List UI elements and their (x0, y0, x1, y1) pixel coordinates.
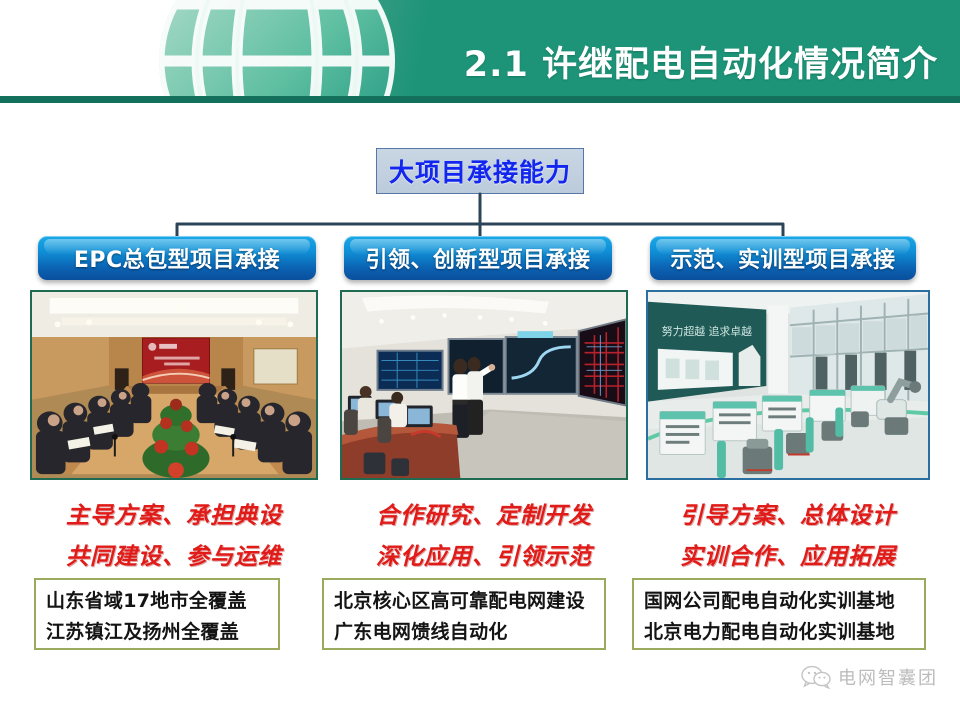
watermark: 电网智囊团 (801, 664, 938, 690)
branch-pill-label: 示范、实训型项目承接 (670, 242, 895, 274)
diagram-root-node[interactable]: 大项目承接能力 (376, 148, 584, 194)
slogan-epc-line-1: 主导方案、承担典设 (30, 496, 318, 530)
factbox-line: 江苏镇江及扬州全覆盖 (46, 617, 268, 648)
meeting-room-photo (30, 290, 318, 480)
factbox-line: 北京核心区高可靠配电网建设 (334, 586, 594, 617)
branch-pill-innovation[interactable]: 引领、创新型项目承接 (344, 236, 612, 280)
slogan-innovation-line-1: 合作研究、定制开发 (340, 496, 628, 530)
branch-pill-training[interactable]: 示范、实训型项目承接 (650, 236, 916, 280)
training-base-photo: 努力超越 追求卓越 (646, 290, 930, 480)
factbox-training: 国网公司配电自动化实训基地 北京电力配电自动化实训基地 (632, 578, 926, 650)
factbox-line: 国网公司配电自动化实训基地 (644, 586, 914, 617)
training-base-banner-text: 努力超越 追求卓越 (662, 324, 752, 338)
factbox-line: 北京电力配电自动化实训基地 (644, 617, 914, 648)
slogan-epc-line-2: 共同建设、参与运维 (30, 537, 318, 571)
control-center-photo (340, 290, 628, 480)
factbox-innovation: 北京核心区高可靠配电网建设 广东电网馈线自动化 (322, 578, 606, 650)
slogan-training-line-1: 引导方案、总体设计 (646, 496, 930, 530)
branch-pill-epc[interactable]: EPC总包型项目承接 (38, 236, 316, 280)
wechat-icon (801, 665, 831, 689)
slogan-training-line-2: 实训合作、应用拓展 (646, 537, 930, 571)
slogan-innovation-line-2: 深化应用、引领示范 (340, 537, 628, 571)
factbox-line: 山东省域17地市全覆盖 (46, 586, 268, 617)
branch-pill-label: EPC总包型项目承接 (74, 242, 280, 274)
slide-header: 2.1 许继配电自动化情况简介 (0, 0, 960, 104)
diagram-root-label: 大项目承接能力 (389, 153, 571, 189)
header-divider-highlight (0, 103, 960, 104)
branch-pill-label: 引领、创新型项目承接 (365, 242, 590, 274)
factbox-epc: 山东省域17地市全覆盖 江苏镇江及扬州全覆盖 (34, 578, 280, 650)
slide-root: 2.1 许继配电自动化情况简介 大项目承接能力 EPC总包型项目承接 引领、创新… (0, 0, 960, 720)
header-divider-rule (0, 96, 960, 103)
page-title: 2.1 许继配电自动化情况简介 (464, 36, 938, 87)
watermark-text: 电网智囊团 (838, 664, 938, 690)
factbox-line: 广东电网馈线自动化 (334, 617, 594, 648)
globe-grid-icon (152, 0, 402, 104)
